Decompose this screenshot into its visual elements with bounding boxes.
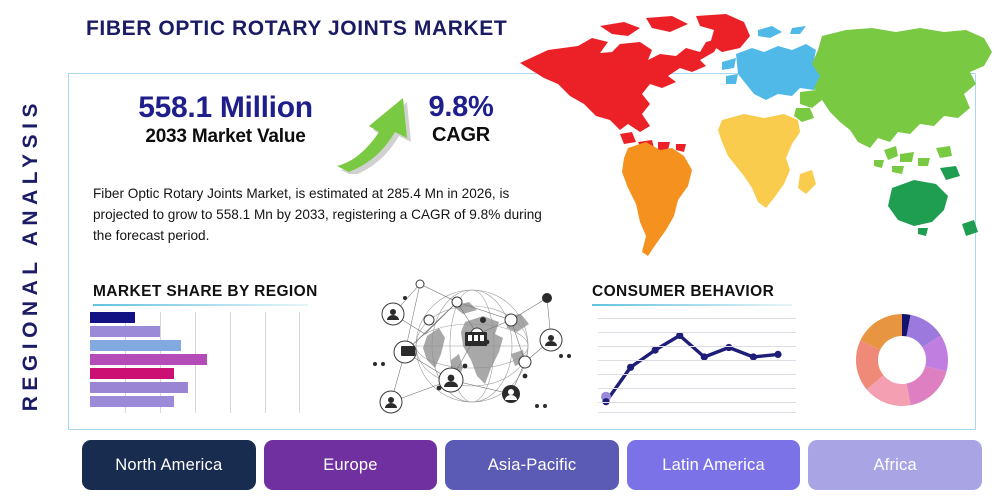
regional-analysis-side-label: REGIONAL ANALYSIS <box>8 55 54 455</box>
side-label-text: REGIONAL ANALYSIS <box>19 98 43 411</box>
bar-chart-bar <box>90 354 207 365</box>
bar-chart-bar <box>90 312 135 323</box>
market-share-underline <box>93 304 308 306</box>
market-value-label: 2033 Market Value <box>118 126 333 148</box>
regional-donut-chart <box>852 310 952 410</box>
global-network-globe-icon <box>365 276 580 421</box>
cagr-label: CAGR <box>406 124 516 147</box>
consumer-behavior-underline <box>592 304 792 306</box>
market-value-kpi: 558.1 Million 2033 Market Value <box>118 92 333 148</box>
page-title: FIBER OPTIC ROTARY JOINTS MARKET <box>86 17 507 41</box>
region-chip-europe[interactable]: Europe <box>264 440 438 490</box>
bar-chart-bar <box>90 368 174 379</box>
region-chip-latin-america[interactable]: Latin America <box>627 440 801 490</box>
region-chip-north-america[interactable]: North America <box>82 440 256 490</box>
consumer-behavior-title: CONSUMER BEHAVIOR <box>592 283 792 301</box>
bar-chart-row <box>90 340 300 351</box>
market-share-bar-chart <box>90 312 300 413</box>
market-share-title: MARKET SHARE BY REGION <box>93 283 318 301</box>
world-map-icon <box>500 8 1000 263</box>
region-chip-row: North AmericaEuropeAsia-PacificLatin Ame… <box>82 440 982 490</box>
region-chip-africa[interactable]: Africa <box>808 440 982 490</box>
market-share-section-header: MARKET SHARE BY REGION <box>93 283 318 306</box>
market-description: Fiber Optic Rotary Joints Market, is est… <box>93 183 563 246</box>
donut-segment <box>906 366 946 405</box>
consumer-behavior-section-header: CONSUMER BEHAVIOR <box>592 283 792 306</box>
cagr-kpi: 9.8% CAGR <box>406 92 516 147</box>
bar-chart-bar <box>90 396 174 407</box>
bar-chart-row <box>90 326 300 337</box>
bar-chart-bar <box>90 326 160 337</box>
bar-chart-row <box>90 354 300 365</box>
bar-chart-bar <box>90 382 188 393</box>
line-chart-gridlines <box>598 312 796 414</box>
consumer-behavior-line-chart <box>598 312 796 414</box>
bar-chart-row <box>90 382 300 393</box>
region-chip-asia-pacific[interactable]: Asia-Pacific <box>445 440 619 490</box>
cagr-number: 9.8% <box>406 92 516 122</box>
bar-chart-row <box>90 312 300 323</box>
bar-chart-row <box>90 368 300 379</box>
market-value-number: 558.1 Million <box>118 92 333 124</box>
kpi-block: 558.1 Million 2033 Market Value 9.8% CAG… <box>118 92 498 172</box>
bar-chart-bar <box>90 340 181 351</box>
bar-chart-row <box>90 396 300 407</box>
